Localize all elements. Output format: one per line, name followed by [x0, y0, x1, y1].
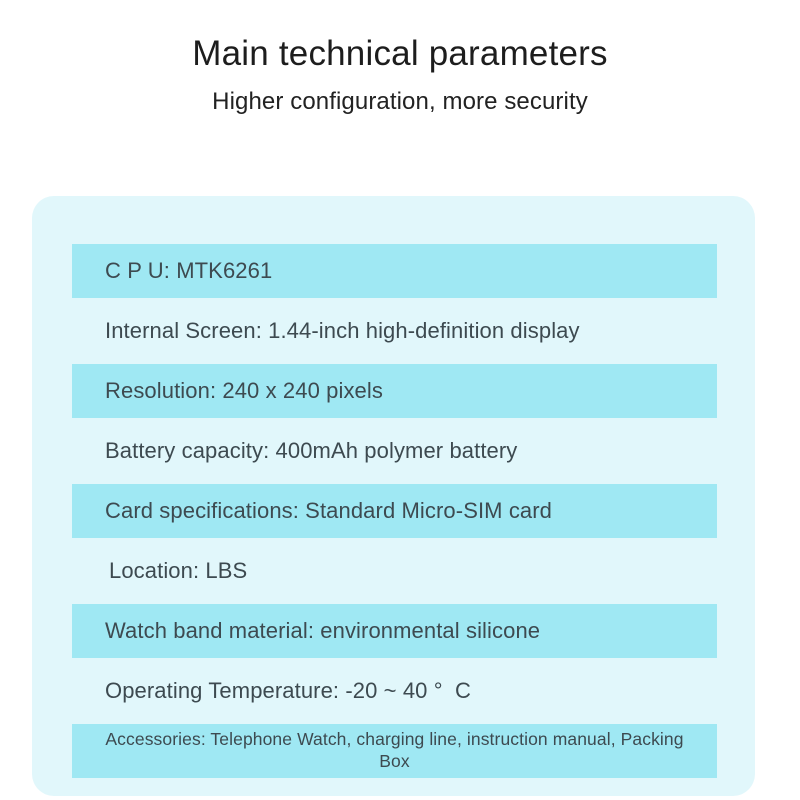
spec-row: Watch band material: environmental silic… [72, 604, 717, 658]
spec-row-text: Operating Temperature: -20 ~ 40 ° C [105, 678, 471, 704]
spec-row-text: Internal Screen: 1.44-inch high-definiti… [105, 318, 580, 344]
spec-row: C P U: MTK6261 [72, 244, 717, 298]
page-subtitle: Higher configuration, more security [0, 88, 800, 116]
product-spec-page: Main technical parameters Higher configu… [0, 0, 800, 800]
spec-row-text: Watch band material: environmental silic… [105, 618, 540, 644]
spec-row: Battery capacity: 400mAh polymer battery [72, 424, 717, 478]
spec-row-text: Battery capacity: 400mAh polymer battery [105, 438, 517, 464]
spec-row: Operating Temperature: -20 ~ 40 ° C [72, 664, 717, 718]
spec-row-text: Accessories: Telephone Watch, charging l… [72, 729, 717, 773]
spec-row-text: Location: LBS [105, 558, 247, 584]
spec-row: Internal Screen: 1.44-inch high-definiti… [72, 304, 717, 358]
spec-row-text: Card specifications: Standard Micro-SIM … [105, 498, 552, 524]
page-title: Main technical parameters [0, 34, 800, 74]
spec-row: Resolution: 240 x 240 pixels [72, 364, 717, 418]
page-header: Main technical parameters Higher configu… [0, 0, 800, 116]
spec-row-text: Resolution: 240 x 240 pixels [105, 378, 383, 404]
spec-row: Location: LBS [72, 544, 717, 598]
spec-card: C P U: MTK6261 Internal Screen: 1.44-inc… [32, 196, 755, 796]
spec-row: Accessories: Telephone Watch, charging l… [72, 724, 717, 778]
spec-row-text: C P U: MTK6261 [105, 258, 272, 284]
spec-row: Card specifications: Standard Micro-SIM … [72, 484, 717, 538]
spec-list: C P U: MTK6261 Internal Screen: 1.44-inc… [72, 244, 717, 784]
